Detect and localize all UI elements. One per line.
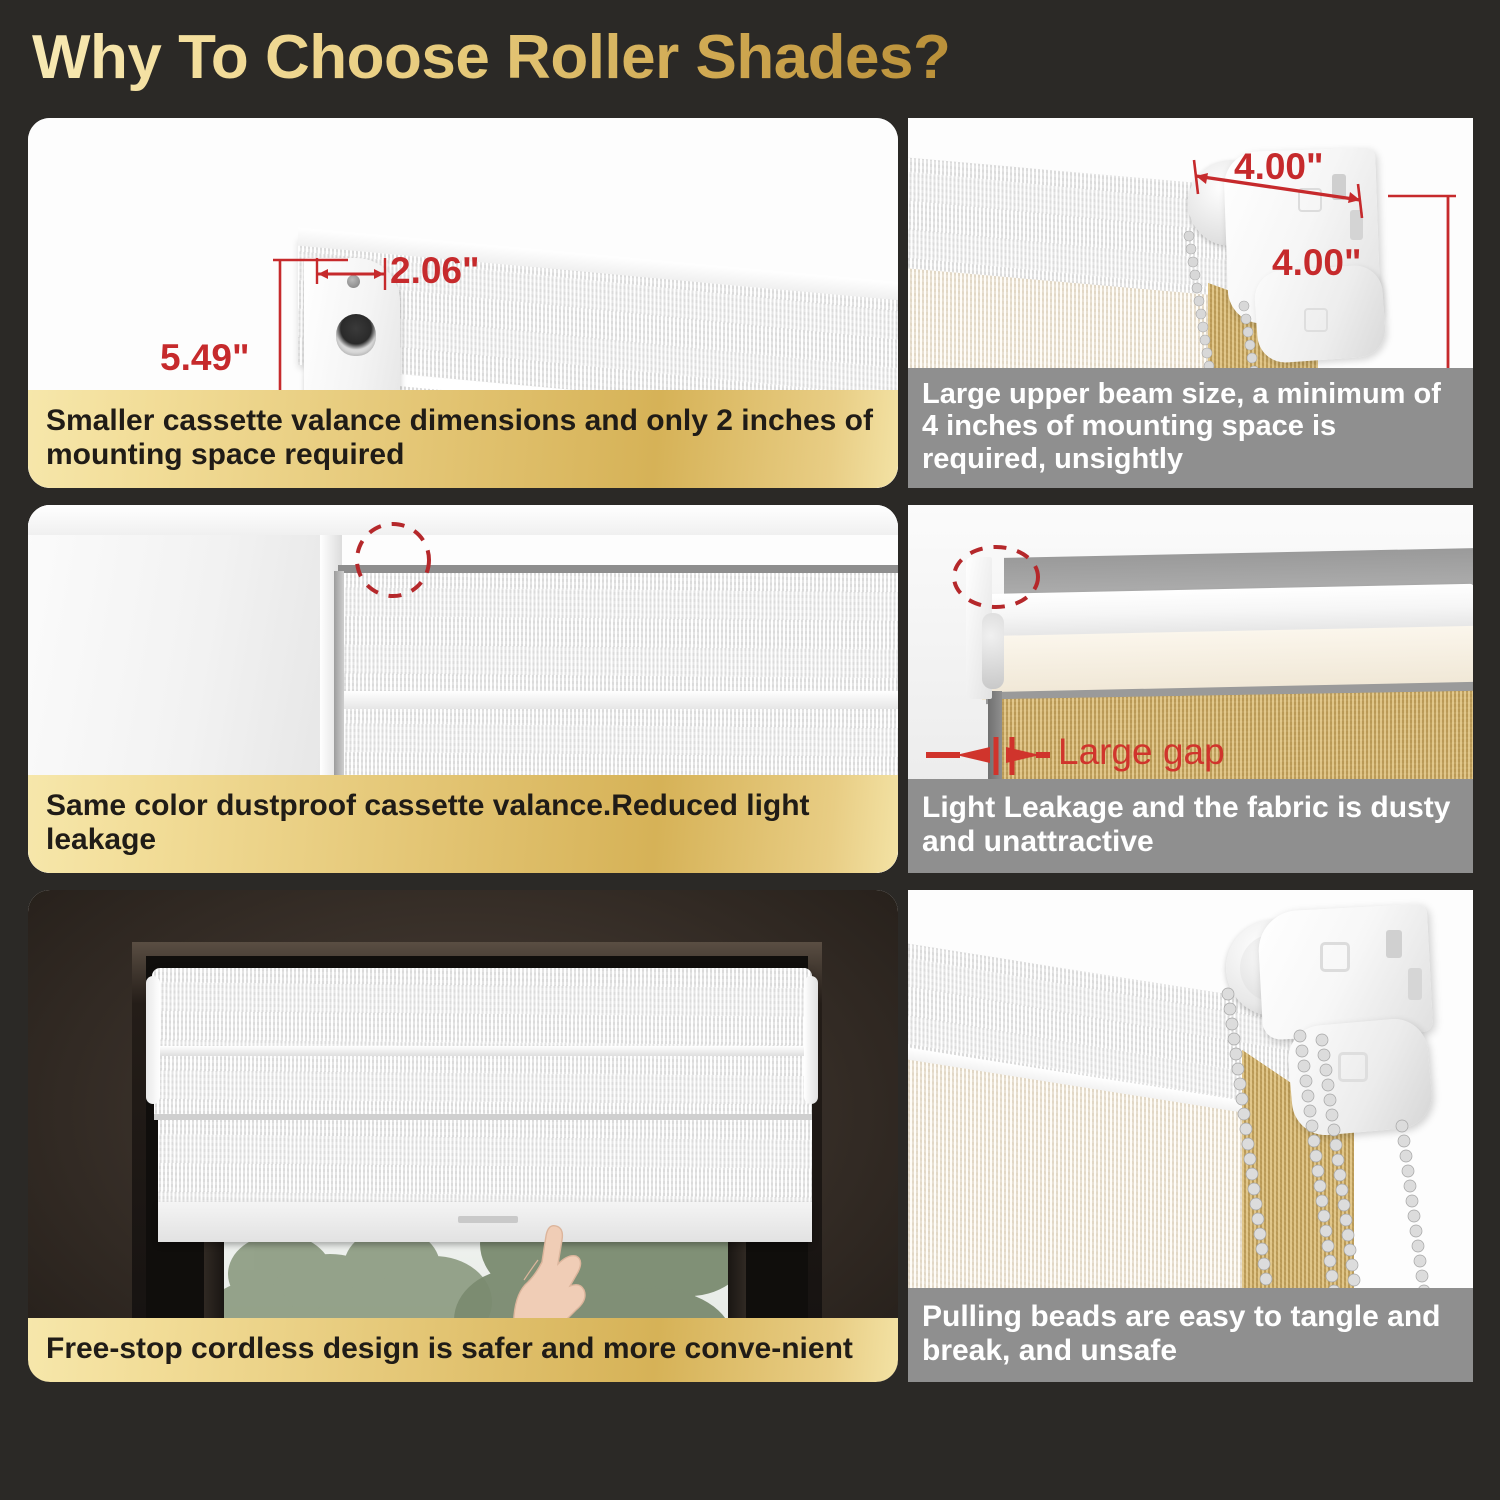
highlight-circle-icon xyxy=(357,524,429,596)
panel-dustproof-cassette: smaller gap Same color dustproof cassett… xyxy=(28,505,898,873)
highlight-ellipse-icon xyxy=(954,547,1038,607)
depth-dimension-label: 2.06" xyxy=(390,250,480,292)
infographic-root: Why To Choose Roller Shades? xyxy=(0,0,1500,1500)
panel-caption: Large upper beam size, a minimum of 4 in… xyxy=(908,368,1473,488)
panel-caption: Pulling beads are easy to tangle and bre… xyxy=(908,1288,1473,1382)
gap-label: Large gap xyxy=(1058,731,1225,773)
cassette-valance xyxy=(152,968,812,1050)
panel-cassette-dimensions: 2.06" 5.49" Smaller cassette valance dim… xyxy=(28,118,898,488)
height-dimension-label: 5.49" xyxy=(160,337,250,379)
panel-cordless-design: Free-stop cordless design is safer and m… xyxy=(28,890,898,1382)
cordless-window-photo xyxy=(28,890,898,1382)
valance-end-cap-left xyxy=(146,976,160,1104)
panel-caption: Same color dustproof cassette valance.Re… xyxy=(28,775,898,873)
width-dimension-label: 4.00" xyxy=(1234,146,1324,188)
valance-end-cap-right xyxy=(804,976,818,1104)
page-title: Why To Choose Roller Shades? xyxy=(32,22,950,93)
panel-large-upper-beam: 4.00" 4.00" Large upper beam size, a min… xyxy=(908,118,1473,488)
panel-caption: Free-stop cordless design is safer and m… xyxy=(28,1318,898,1382)
panel-caption: Light Leakage and the fabric is dusty an… xyxy=(908,779,1473,873)
shade-upper-band xyxy=(154,1056,812,1116)
height-dimension-label: 4.00" xyxy=(1272,242,1362,284)
panel-light-leakage: Large gap Light Leakage and the fabric i… xyxy=(908,505,1473,873)
valance-lip xyxy=(152,1046,812,1056)
panel-caption: Smaller cassette valance dimensions and … xyxy=(28,390,898,488)
panel-pulling-beads: Pulling beads are easy to tangle and bre… xyxy=(908,890,1473,1382)
